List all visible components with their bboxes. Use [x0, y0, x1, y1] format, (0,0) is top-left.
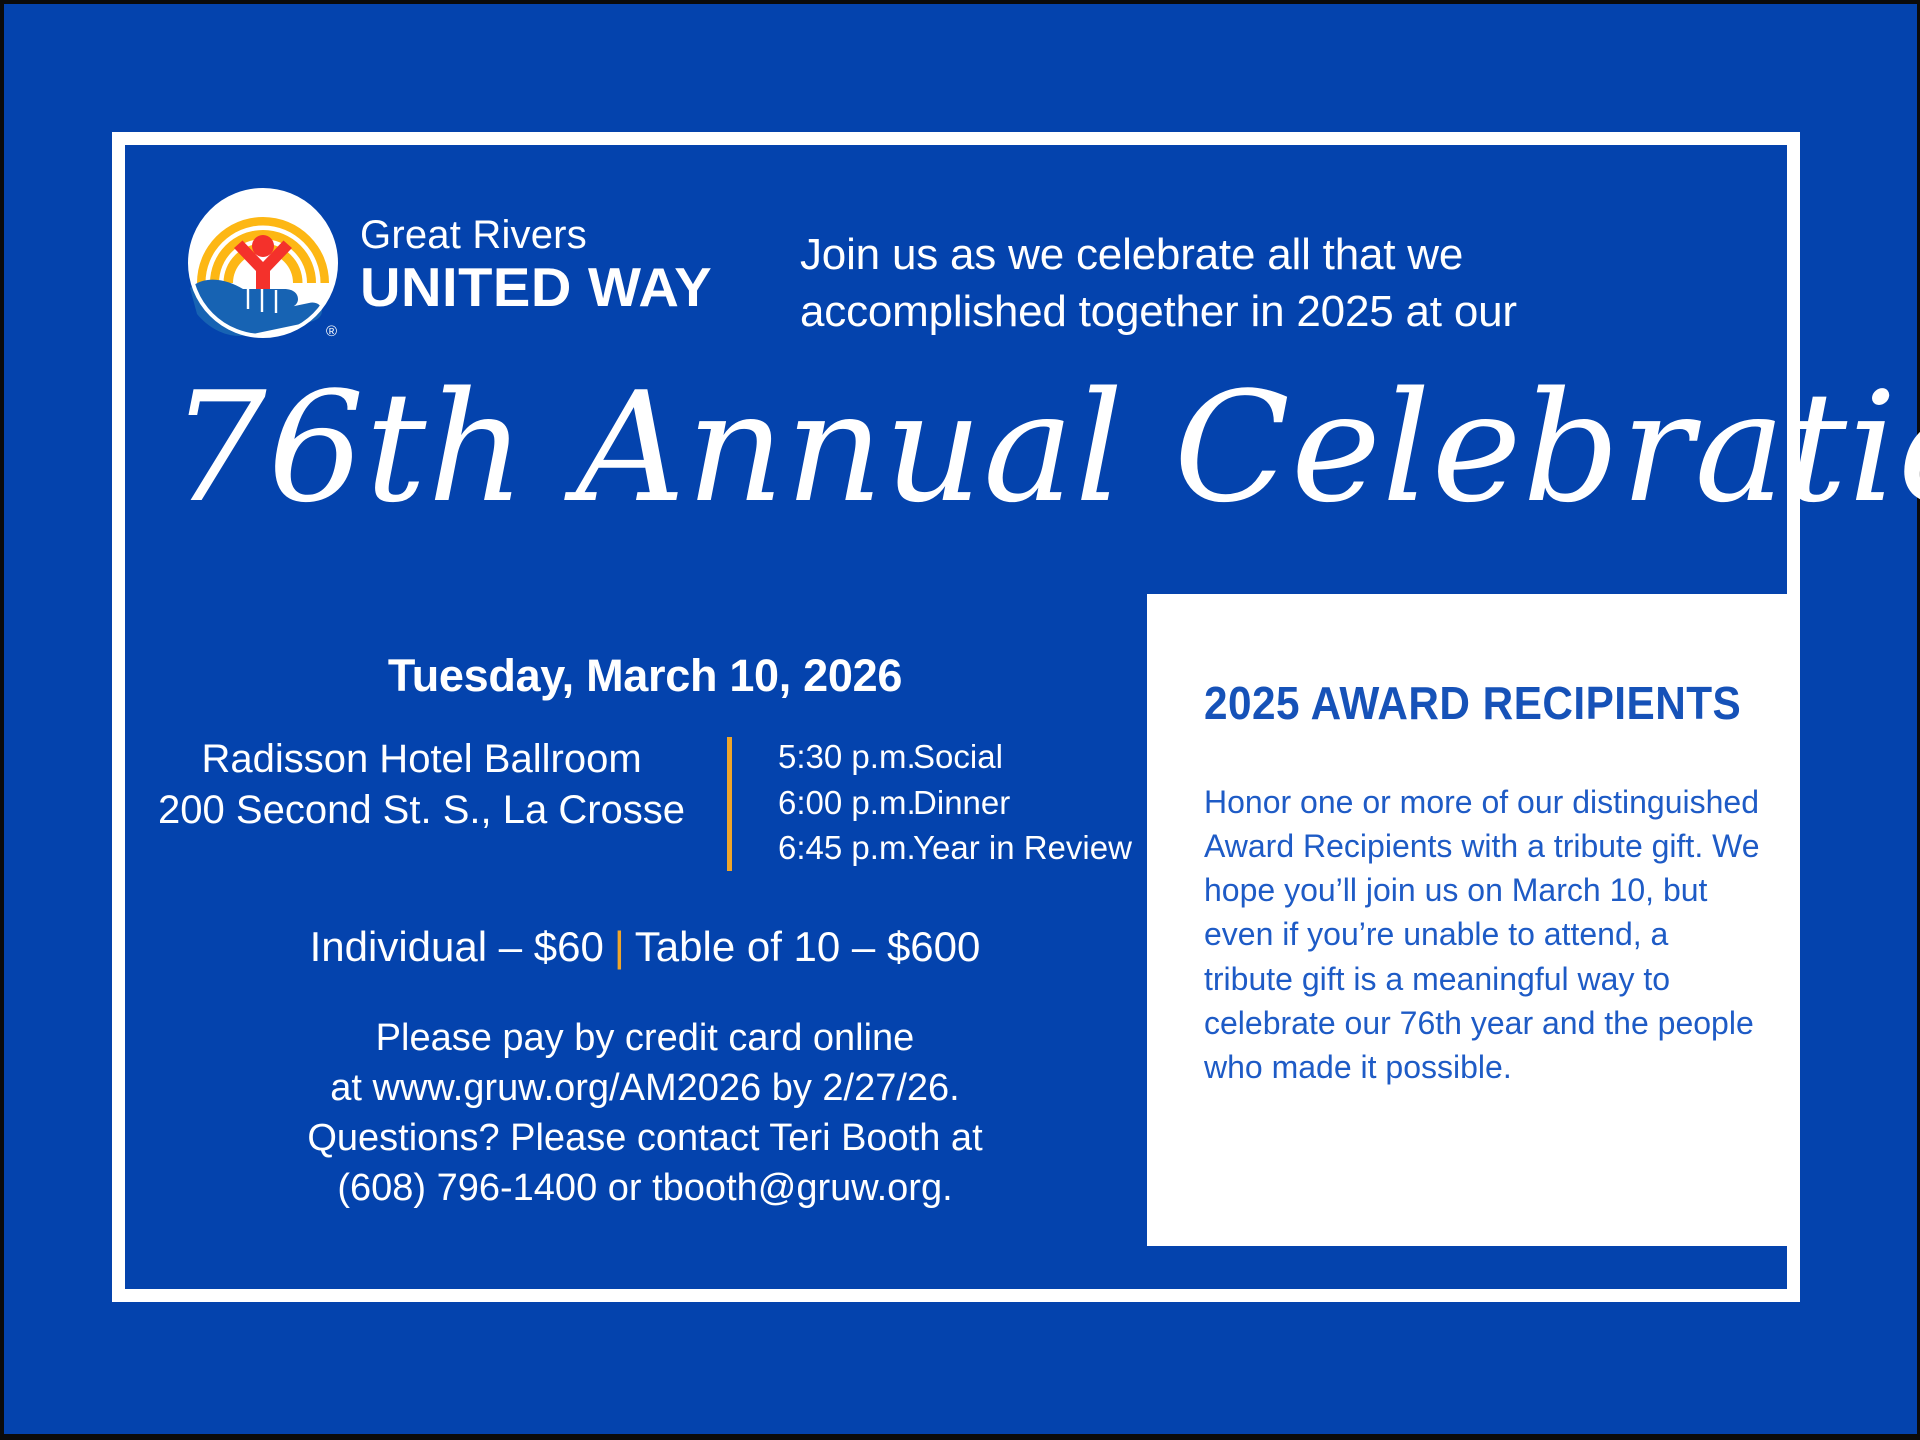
award-panel-title: 2025 AWARD RECIPIENTS [1204, 676, 1741, 730]
event-title-script: 76th Annual Celebration [170, 368, 1730, 528]
united-way-logo: ® Great Rivers UNITED WAY [188, 188, 705, 338]
price-separator: | [604, 923, 635, 970]
invitation-poster: ® Great Rivers UNITED WAY Join us as we … [0, 0, 1920, 1440]
schedule-row: 6:45 p.m. Year in Review [778, 825, 1132, 871]
invitation-intro-text: Join us as we celebrate all that we acco… [800, 226, 1700, 340]
schedule-time: 5:30 p.m. [778, 734, 913, 780]
registered-trademark-mark: ® [326, 323, 337, 340]
logo-wordmark: Great Rivers UNITED WAY [360, 211, 705, 315]
event-venue: Radisson Hotel Ballroom 200 Second St. S… [158, 734, 727, 836]
award-recipients-panel: 2025 AWARD RECIPIENTS Honor one or more … [1147, 594, 1800, 1246]
event-date: Tuesday, March 10, 2026 [150, 650, 1140, 702]
poster-content: ® Great Rivers UNITED WAY Join us as we … [0, 0, 1920, 1440]
venue-line-1: Radisson Hotel Ballroom [158, 734, 685, 785]
logo-line-united-way: UNITED WAY [360, 260, 712, 315]
schedule-label: Dinner [913, 780, 1010, 826]
logo-line-great-rivers: Great Rivers [360, 215, 705, 255]
schedule-time: 6:45 p.m. [778, 825, 913, 871]
payment-line: (608) 796-1400 or tbooth@gruw.org. [150, 1163, 1140, 1213]
venue-line-2: 200 Second St. S., La Crosse [158, 785, 685, 836]
event-details-column: Tuesday, March 10, 2026 Radisson Hotel B… [150, 650, 1140, 1213]
payment-line: Questions? Please contact Teri Booth at [150, 1113, 1140, 1163]
schedule-row: 6:00 p.m. Dinner [778, 780, 1132, 826]
schedule-label: Social [913, 734, 1003, 780]
payment-and-contact-info: Please pay by credit card online at www.… [150, 1013, 1140, 1214]
ticket-pricing: Individual – $60|Table of 10 – $600 [150, 923, 1140, 971]
schedule-label: Year in Review [913, 825, 1132, 871]
price-individual: Individual – $60 [310, 923, 604, 970]
payment-line: Please pay by credit card online [150, 1013, 1140, 1063]
united-way-rainbow-hand-person-icon: ® [188, 188, 338, 338]
payment-line: at www.gruw.org/AM2026 by 2/27/26. [150, 1063, 1140, 1113]
price-table: Table of 10 – $600 [635, 923, 981, 970]
schedule-row: 5:30 p.m. Social [778, 734, 1132, 780]
schedule-time: 6:00 p.m. [778, 780, 913, 826]
award-panel-body: Honor one or more of our distinguished A… [1204, 780, 1764, 1089]
event-schedule: 5:30 p.m. Social 6:00 p.m. Dinner 6:45 p… [732, 734, 1132, 871]
venue-and-schedule: Radisson Hotel Ballroom 200 Second St. S… [150, 734, 1140, 871]
